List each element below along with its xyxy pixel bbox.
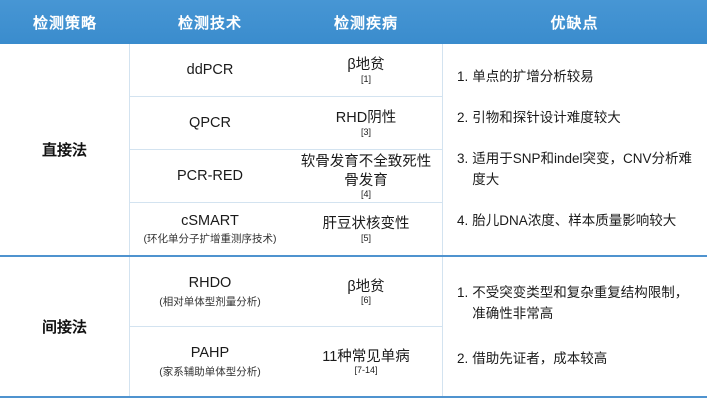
note-text: 胎儿DNA浓度、样本质量影响较大	[472, 211, 697, 232]
note-number: 1.	[457, 283, 468, 325]
cell-disease: 肝豆状核变性[5]	[290, 203, 442, 255]
cell-disease: β地贫[6]	[290, 257, 442, 326]
note-item: 1. 不受突变类型和复杂重复结构限制，准确性非常高	[457, 283, 697, 325]
note-text: 借助先证者，成本较高	[472, 349, 697, 370]
reference-marker: [5]	[361, 234, 371, 243]
cell-technology: QPCR	[130, 97, 290, 149]
cell-disease: 11种常见单病[7-14]	[290, 327, 442, 396]
column-header-prosandcons: 优缺点	[442, 12, 707, 33]
cell-technology: PAHP (家系辅助单体型分析)	[130, 327, 290, 396]
technology-name: PCR-RED	[177, 167, 243, 186]
table-row: PAHP (家系辅助单体型分析) 11种常见单病[7-14]	[130, 327, 442, 396]
note-number: 2.	[457, 349, 468, 370]
cell-technology: PCR-RED	[130, 150, 290, 202]
disease-name: β地贫	[347, 56, 384, 75]
note-item: 2. 借助先证者，成本较高	[457, 349, 697, 370]
note-number: 2.	[457, 108, 468, 129]
disease-name: 肝豆状核变性	[323, 215, 410, 234]
note-number: 1.	[457, 67, 468, 88]
note-text: 引物和探针设计难度较大	[472, 108, 697, 129]
column-header-technology: 检测技术	[130, 12, 290, 33]
table-row: ddPCR β地贫[1]	[130, 44, 442, 97]
cell-disease: β地贫[1]	[290, 44, 442, 96]
disease-name: 11种常见单病	[322, 348, 410, 367]
strategy-label-direct: 直接法	[0, 44, 130, 255]
technology-name: QPCR	[189, 114, 231, 133]
technology-name: ddPCR	[187, 61, 234, 80]
reference-marker: [1]	[361, 75, 371, 84]
comparison-table: 检测策略 检测技术 检测疾病 优缺点 直接法 ddPCR β地贫[1] QPCR…	[0, 0, 707, 400]
note-text: 适用于SNP和indel突变，CNV分析难度大	[472, 149, 697, 191]
reference-marker: [3]	[361, 128, 371, 137]
note-number: 3.	[457, 149, 468, 191]
note-number: 4.	[457, 211, 468, 232]
technology-subtitle: (相对单体型剂量分析)	[159, 296, 261, 309]
table-row: QPCR RHD阴性[3]	[130, 97, 442, 150]
column-header-disease: 检测疾病	[290, 12, 442, 33]
reference-marker: [4]	[361, 190, 371, 199]
note-item: 1. 单点的扩增分析较易	[457, 67, 697, 88]
table-row: RHDO (相对单体型剂量分析) β地贫[6]	[130, 257, 442, 327]
technology-name: RHDO	[189, 274, 232, 293]
reference-marker: [7-14]	[354, 366, 377, 375]
technology-name: cSMART	[181, 212, 239, 231]
technology-subtitle: (环化单分子扩增重测序技术)	[144, 233, 277, 246]
table-block-indirect: 间接法 RHDO (相对单体型剂量分析) β地贫[6] PAHP (家系辅助单体…	[0, 257, 707, 398]
table-header-row: 检测策略 检测技术 检测疾病 优缺点	[0, 0, 707, 44]
disease-name: 软骨发育不全致死性骨发育	[294, 153, 438, 191]
cell-disease: RHD阴性[3]	[290, 97, 442, 149]
cell-disease: 软骨发育不全致死性骨发育[4]	[290, 150, 442, 202]
notes-direct: 1. 单点的扩增分析较易 2. 引物和探针设计难度较大 3. 适用于SNP和in…	[442, 44, 707, 255]
cell-technology: cSMART (环化单分子扩增重测序技术)	[130, 203, 290, 255]
table-row: cSMART (环化单分子扩增重测序技术) 肝豆状核变性[5]	[130, 203, 442, 255]
note-item: 3. 适用于SNP和indel突变，CNV分析难度大	[457, 149, 697, 191]
cell-technology: RHDO (相对单体型剂量分析)	[130, 257, 290, 326]
disease-name: β地贫	[347, 278, 384, 297]
notes-indirect: 1. 不受突变类型和复杂重复结构限制，准确性非常高 2. 借助先证者，成本较高	[442, 257, 707, 396]
note-text: 单点的扩增分析较易	[472, 67, 697, 88]
table-row: PCR-RED 软骨发育不全致死性骨发育[4]	[130, 150, 442, 203]
table-block-direct: 直接法 ddPCR β地贫[1] QPCR RHD阴性[3]	[0, 44, 707, 257]
disease-name: RHD阴性	[336, 109, 396, 128]
note-text: 不受突变类型和复杂重复结构限制，准确性非常高	[472, 283, 697, 325]
note-item: 4. 胎儿DNA浓度、样本质量影响较大	[457, 211, 697, 232]
strategy-label-indirect: 间接法	[0, 257, 130, 396]
cell-technology: ddPCR	[130, 44, 290, 96]
column-header-strategy: 检测策略	[0, 12, 130, 33]
rows-direct: ddPCR β地贫[1] QPCR RHD阴性[3] PCR-RED	[130, 44, 442, 255]
technology-subtitle: (家系辅助单体型分析)	[159, 366, 261, 379]
technology-name: PAHP	[191, 344, 229, 363]
note-item: 2. 引物和探针设计难度较大	[457, 108, 697, 129]
rows-indirect: RHDO (相对单体型剂量分析) β地贫[6] PAHP (家系辅助单体型分析)…	[130, 257, 442, 396]
reference-marker: [6]	[361, 296, 371, 305]
